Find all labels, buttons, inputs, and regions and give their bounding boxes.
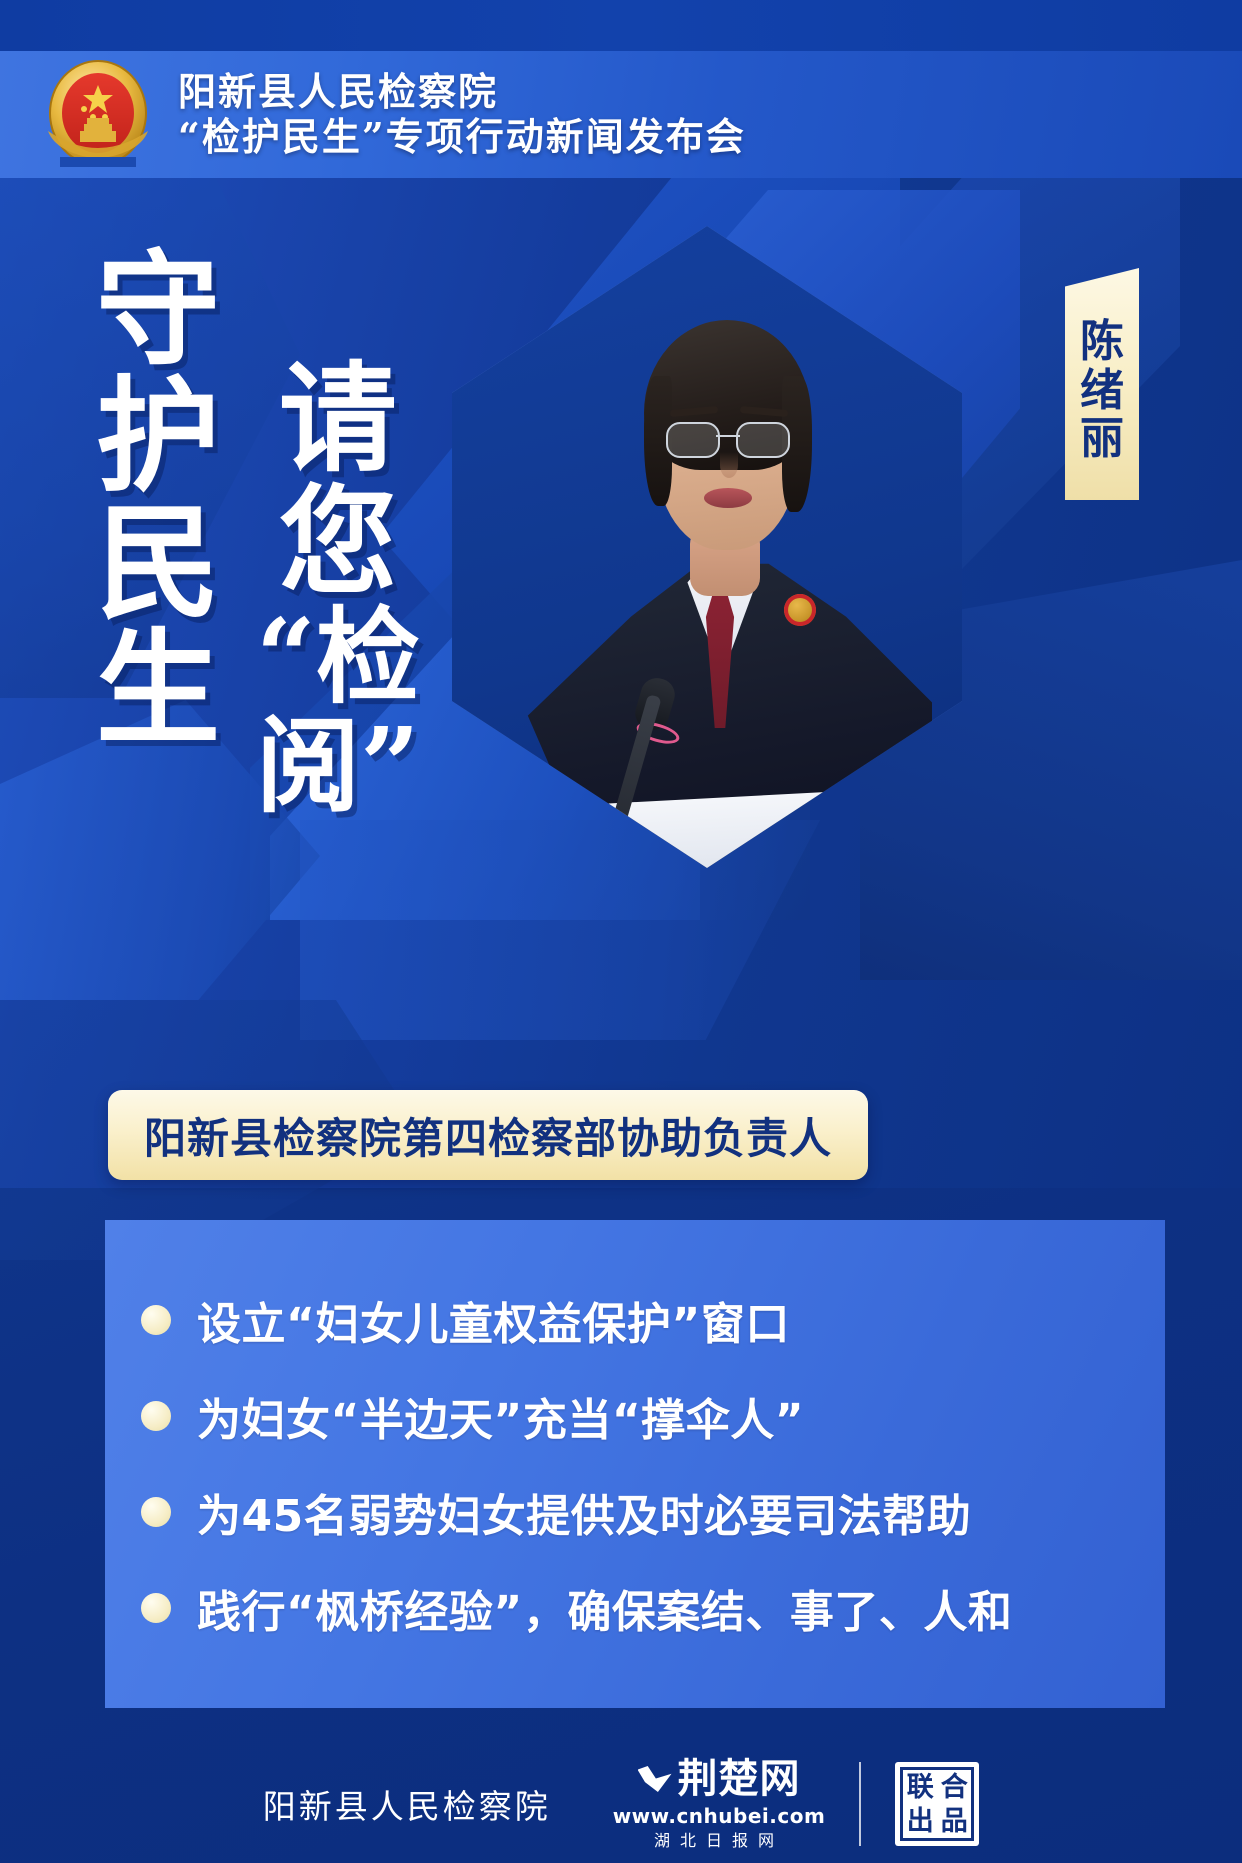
position-banner-text: 阳新县检察院第四检察部协助负责人 [144, 1105, 832, 1166]
footer-organization: 阳新县人民检察院 [263, 1780, 551, 1828]
bg-shape-i [300, 820, 820, 1040]
speaker-name-char-2: 丽 [1080, 415, 1124, 463]
hero-title-right-char-3: 阅” [256, 712, 420, 820]
portrait-lapel-badge-icon [784, 594, 816, 626]
hero-title-right-char-0: 请 [279, 358, 397, 481]
bullet-text-1: 为妇女“半边天”充当“撑伞人” [197, 1384, 804, 1448]
hero-title-left-char-3: 生 [96, 627, 220, 753]
cnhubei-logo-text: 荆楚网 [678, 1759, 801, 1799]
hero-title-left-char-1: 护 [96, 374, 220, 500]
cnhubei-url: www.cnhubei.com [613, 1806, 826, 1826]
portrait-glasses-icon [666, 422, 790, 456]
bullet-dot-icon [141, 1497, 171, 1527]
header-line-1: 阳新县人民检察院 [178, 70, 746, 114]
cnhubei-subtitle: 湖北日报网 [654, 1833, 784, 1849]
top-strip [0, 0, 1242, 51]
stamp-char-1: 合 [941, 1774, 968, 1801]
bullet-dot-icon [141, 1593, 171, 1623]
list-item: 设立“妇女儿童权益保护”窗口 [141, 1272, 1165, 1368]
speaker-name-banner: 陈 绪 丽 [1065, 268, 1139, 500]
list-item: 践行“枫桥经验”，确保案结、事了、人和 [141, 1560, 1165, 1656]
bullet-text-3: 践行“枫桥经验”，确保案结、事了、人和 [197, 1576, 1012, 1640]
portrait-nose [720, 452, 738, 478]
hero-title-right-char-2: “检 [256, 603, 420, 711]
speaker-portrait [452, 226, 962, 868]
hero-title-right: 请 您 “检 阅” [256, 358, 420, 820]
stamp-char-0: 联 [907, 1774, 934, 1801]
bullet-panel: 设立“妇女儿童权益保护”窗口 为妇女“半边天”充当“撑伞人” 为45名弱势妇女提… [105, 1220, 1165, 1708]
speaker-name-char-1: 绪 [1080, 367, 1124, 415]
footer-divider [859, 1762, 861, 1846]
stamp-char-3: 品 [941, 1808, 968, 1835]
bullet-dot-icon [141, 1401, 171, 1431]
swoosh-icon [638, 1766, 672, 1792]
header-line-2: “检护民生”专项行动新闻发布会 [178, 115, 746, 159]
portrait-mouth [704, 488, 752, 508]
stamp-char-2: 出 [907, 1808, 934, 1835]
header-title-block: 阳新县人民检察院 “检护民生”专项行动新闻发布会 [178, 70, 746, 158]
cnhubei-logo-main: 荆楚网 [638, 1759, 801, 1799]
hero-title-right-char-1: 您 [279, 481, 397, 604]
list-item: 为45名弱势妇女提供及时必要司法帮助 [141, 1464, 1165, 1560]
poster-root: 阳新县人民检察院 “检护民生”专项行动新闻发布会 守 护 民 生 请 您 “检 … [0, 0, 1242, 1863]
procuratorate-emblem-icon [40, 57, 156, 173]
joint-production-stamp: 联 合 出 品 [895, 1762, 979, 1846]
position-banner: 阳新县检察院第四检察部协助负责人 [108, 1090, 868, 1180]
hero-title-left-char-0: 守 [96, 248, 220, 374]
page-header: 阳新县人民检察院 “检护民生”专项行动新闻发布会 [0, 51, 1242, 178]
page-footer: 阳新县人民检察院 荆楚网 www.cnhubei.com 湖北日报网 联 合 出… [0, 1745, 1242, 1863]
bullet-text-0: 设立“妇女儿童权益保护”窗口 [197, 1288, 790, 1352]
cnhubei-logo: 荆楚网 www.cnhubei.com 湖北日报网 [613, 1759, 826, 1849]
hero-title-left-char-2: 民 [96, 501, 220, 627]
hero-title-left: 守 护 民 生 [96, 248, 220, 754]
speaker-name-char-0: 陈 [1080, 318, 1124, 366]
bullet-text-2: 为45名弱势妇女提供及时必要司法帮助 [197, 1480, 971, 1544]
list-item: 为妇女“半边天”充当“撑伞人” [141, 1368, 1165, 1464]
bullet-dot-icon [141, 1305, 171, 1335]
